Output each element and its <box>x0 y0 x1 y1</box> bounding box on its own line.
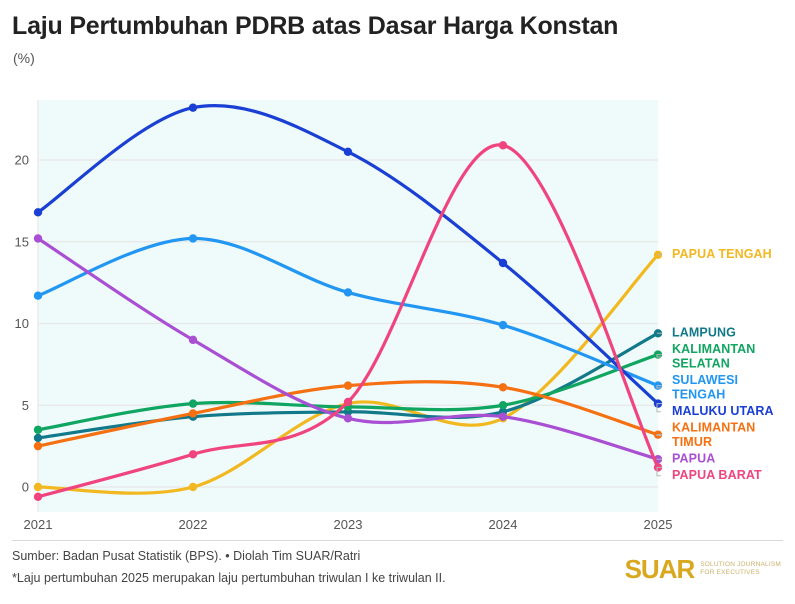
data-point[interactable] <box>189 234 197 242</box>
data-point[interactable] <box>189 336 197 344</box>
data-point[interactable] <box>34 426 42 434</box>
y-axis-tick: 15 <box>15 234 29 249</box>
data-point[interactable] <box>499 412 507 420</box>
chart-container: Laju Pertumbuhan PDRB atas Dasar Harga K… <box>0 0 795 604</box>
data-point[interactable] <box>344 148 352 156</box>
data-point[interactable] <box>189 409 197 417</box>
legend-label-papua-barat[interactable]: PAPUA BARAT <box>672 468 762 482</box>
plot-background <box>38 100 658 512</box>
data-point[interactable] <box>34 442 42 450</box>
data-point[interactable] <box>34 208 42 216</box>
line-chart-svg: 0510152020212022202320242025PAPUA TENGAH… <box>0 0 795 540</box>
logo-wordmark: SUAR <box>625 556 695 582</box>
legend-label-maluku-utara[interactable]: MALUKU UTARA <box>672 404 774 418</box>
data-point[interactable] <box>189 450 197 458</box>
legend: PAPUA TENGAHLAMPUNGKALIMANTANSELATANSULA… <box>657 247 774 482</box>
y-axis-tick: 20 <box>15 153 29 168</box>
data-point[interactable] <box>189 483 197 491</box>
data-point[interactable] <box>189 399 197 407</box>
legend-label-kalimantan-selatan[interactable]: SELATAN <box>672 357 730 371</box>
suar-logo: SUAR SOLUTION JOURNALISM for EXECUTIVES <box>625 556 781 582</box>
legend-label-kalimantan-timur[interactable]: TIMUR <box>672 435 712 449</box>
legend-label-sulawesi-tengah[interactable]: SULAWESI <box>672 373 738 387</box>
legend-label-lampung[interactable]: LAMPUNG <box>672 326 736 340</box>
x-axis-tick: 2021 <box>24 517 53 532</box>
data-point[interactable] <box>499 321 507 329</box>
data-point[interactable] <box>499 141 507 149</box>
x-axis-tick: 2023 <box>334 517 363 532</box>
x-axis-tick: 2022 <box>179 517 208 532</box>
source-note: Sumber: Badan Pusat Statistik (BPS). • D… <box>12 549 360 563</box>
legend-label-kalimantan-selatan[interactable]: KALIMANTAN <box>672 342 755 356</box>
data-point[interactable] <box>499 401 507 409</box>
data-point[interactable] <box>499 259 507 267</box>
plot-area: 0510152020212022202320242025PAPUA TENGAH… <box>0 0 795 540</box>
data-point[interactable] <box>34 234 42 242</box>
data-point[interactable] <box>189 103 197 111</box>
logo-tagline-line1: SOLUTION JOURNALISM <box>700 561 781 569</box>
data-point[interactable] <box>34 483 42 491</box>
x-axis-tick: 2025 <box>644 517 673 532</box>
x-axis-ticks: 20212022202320242025 <box>24 517 673 532</box>
legend-label-papua[interactable]: PAPUA <box>672 452 715 466</box>
methodology-note: *Laju pertumbuhan 2025 merupakan laju pe… <box>12 571 446 585</box>
data-point[interactable] <box>344 398 352 406</box>
footer-divider <box>12 540 783 541</box>
legend-label-kalimantan-timur[interactable]: KALIMANTAN <box>672 421 755 435</box>
data-point[interactable] <box>34 493 42 501</box>
logo-tagline-line2: for EXECUTIVES <box>700 569 781 577</box>
data-point[interactable] <box>344 414 352 422</box>
logo-tagline: SOLUTION JOURNALISM for EXECUTIVES <box>700 561 781 577</box>
legend-label-papua-tengah[interactable]: PAPUA TENGAH <box>672 247 772 261</box>
data-point[interactable] <box>344 288 352 296</box>
data-point[interactable] <box>34 434 42 442</box>
y-axis-tick: 5 <box>22 398 29 413</box>
y-axis-tick: 0 <box>22 480 29 495</box>
data-point[interactable] <box>344 381 352 389</box>
legend-label-sulawesi-tengah[interactable]: TENGAH <box>672 388 725 402</box>
data-point[interactable] <box>499 383 507 391</box>
data-point[interactable] <box>34 292 42 300</box>
y-axis-tick: 10 <box>15 316 29 331</box>
x-axis-tick: 2024 <box>489 517 518 532</box>
